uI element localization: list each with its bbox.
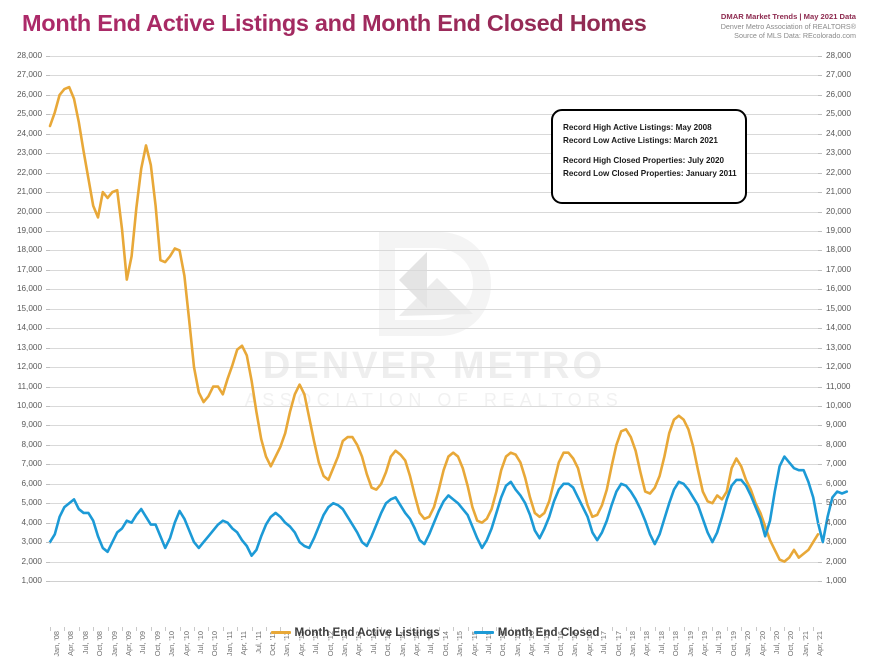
y-axis-tick-label: 27,000 bbox=[826, 71, 851, 79]
series-line-closed bbox=[50, 457, 847, 556]
y-axis-tick-label: 17,000 bbox=[17, 266, 42, 274]
y-axis-tick bbox=[46, 464, 50, 465]
y-axis-tick bbox=[46, 542, 50, 543]
record-high-closed: Record High Closed Properties: July 2020 bbox=[563, 155, 745, 168]
chart-header: Month End Active Listings and Month End … bbox=[0, 0, 870, 46]
y-axis-tick-label: 26,000 bbox=[826, 91, 851, 99]
y-axis-tick bbox=[818, 231, 822, 232]
y-axis-tick-label: 25,000 bbox=[17, 110, 42, 118]
y-axis-tick-label: 21,000 bbox=[17, 188, 42, 196]
y-axis-tick bbox=[818, 173, 822, 174]
page-title: Month End Active Listings and Month End … bbox=[22, 10, 647, 37]
record-annotation-box: Record High Active Listings: May 2008 Re… bbox=[551, 109, 747, 204]
y-axis-tick-label: 5,000 bbox=[826, 499, 847, 507]
legend-swatch-closed bbox=[474, 631, 494, 634]
y-axis-tick-label: 24,000 bbox=[17, 130, 42, 138]
y-axis-tick bbox=[818, 289, 822, 290]
y-axis-tick-label: 8,000 bbox=[22, 441, 43, 449]
y-axis-tick-label: 23,000 bbox=[17, 149, 42, 157]
y-axis-tick-label: 20,000 bbox=[17, 208, 42, 216]
y-axis-tick-label: 10,000 bbox=[826, 402, 851, 410]
y-axis-tick-label: 16,000 bbox=[826, 285, 851, 293]
y-axis-tick-label: 10,000 bbox=[17, 402, 42, 410]
y-axis-tick bbox=[818, 309, 822, 310]
y-axis-tick bbox=[818, 153, 822, 154]
y-axis-tick-label: 25,000 bbox=[826, 110, 851, 118]
y-axis-tick bbox=[46, 114, 50, 115]
y-axis-tick bbox=[46, 425, 50, 426]
y-axis-tick bbox=[46, 95, 50, 96]
y-axis-tick bbox=[46, 581, 50, 582]
y-axis-tick bbox=[818, 484, 822, 485]
y-axis-tick bbox=[818, 406, 822, 407]
y-axis-tick-label: 2,000 bbox=[22, 558, 43, 566]
y-axis-tick-label: 3,000 bbox=[826, 538, 847, 546]
y-axis-tick-label: 15,000 bbox=[826, 305, 851, 313]
legend-item-closed[interactable]: Month End Closed bbox=[474, 626, 600, 639]
y-axis-tick bbox=[818, 503, 822, 504]
y-axis-tick bbox=[818, 270, 822, 271]
y-axis-tick-label: 23,000 bbox=[826, 149, 851, 157]
gridline bbox=[50, 581, 818, 582]
y-axis-tick-label: 9,000 bbox=[826, 421, 847, 429]
y-axis-tick bbox=[46, 406, 50, 407]
y-axis-tick-label: 7,000 bbox=[826, 460, 847, 468]
y-axis-tick-label: 12,000 bbox=[17, 363, 42, 371]
y-axis-tick bbox=[818, 250, 822, 251]
y-axis-tick-label: 27,000 bbox=[17, 71, 42, 79]
y-axis-tick-label: 28,000 bbox=[826, 52, 851, 60]
y-axis-tick-label: 19,000 bbox=[17, 227, 42, 235]
y-axis-tick bbox=[818, 192, 822, 193]
y-axis-tick-label: 28,000 bbox=[17, 52, 42, 60]
y-axis-tick-label: 8,000 bbox=[826, 441, 847, 449]
y-axis-tick bbox=[46, 445, 50, 446]
y-axis-tick bbox=[46, 348, 50, 349]
y-axis-tick bbox=[818, 523, 822, 524]
y-axis-tick-label: 17,000 bbox=[826, 266, 851, 274]
y-axis-tick bbox=[46, 250, 50, 251]
legend-label-closed: Month End Closed bbox=[498, 626, 600, 639]
y-axis-tick-label: 4,000 bbox=[22, 519, 43, 527]
y-axis-tick bbox=[818, 114, 822, 115]
y-axis-tick-label: 18,000 bbox=[826, 246, 851, 254]
y-axis-tick bbox=[46, 328, 50, 329]
y-axis-tick bbox=[46, 75, 50, 76]
y-axis-tick-label: 1,000 bbox=[826, 577, 847, 585]
attribution-line-3: Source of MLS Data: REcolorado.com bbox=[721, 31, 856, 40]
y-axis-tick-label: 6,000 bbox=[22, 480, 43, 488]
record-low-closed: Record Low Closed Properties: January 20… bbox=[563, 168, 745, 181]
attribution-block: DMAR Market Trends | May 2021 Data Denve… bbox=[721, 12, 856, 40]
y-axis-tick-label: 7,000 bbox=[22, 460, 43, 468]
y-axis-tick-label: 9,000 bbox=[22, 421, 43, 429]
y-axis-tick bbox=[818, 348, 822, 349]
attribution-line-1: DMAR Market Trends | May 2021 Data bbox=[721, 12, 856, 22]
y-axis-tick bbox=[818, 464, 822, 465]
y-axis-tick bbox=[818, 425, 822, 426]
y-axis-tick-label: 18,000 bbox=[17, 246, 42, 254]
y-axis-tick bbox=[46, 367, 50, 368]
y-axis-tick bbox=[818, 75, 822, 76]
record-high-active: Record High Active Listings: May 2008 bbox=[563, 122, 745, 135]
y-axis-tick-label: 26,000 bbox=[17, 91, 42, 99]
attribution-line-2: Denver Metro Association of REALTORS® bbox=[721, 22, 856, 31]
y-axis-tick bbox=[46, 270, 50, 271]
chart-page: Month End Active Listings and Month End … bbox=[0, 0, 870, 665]
y-axis-tick-label: 5,000 bbox=[22, 499, 43, 507]
y-axis-tick-label: 22,000 bbox=[826, 169, 851, 177]
y-axis-tick bbox=[46, 192, 50, 193]
y-axis-tick-label: 14,000 bbox=[17, 324, 42, 332]
legend-swatch-active-listings bbox=[271, 631, 291, 634]
y-axis-tick bbox=[46, 562, 50, 563]
y-axis-tick bbox=[46, 153, 50, 154]
record-low-active: Record Low Active Listings: March 2021 bbox=[563, 135, 745, 148]
y-axis-tick-label: 2,000 bbox=[826, 558, 847, 566]
plot-wrapper: DENVER METRO ASSOCIATION OF REALTORS 28,… bbox=[0, 46, 870, 621]
y-axis-tick bbox=[46, 212, 50, 213]
legend-label-active-listings: Month End Active Listings bbox=[295, 626, 440, 639]
y-axis-tick bbox=[46, 387, 50, 388]
y-axis-tick-label: 16,000 bbox=[17, 285, 42, 293]
y-axis-tick bbox=[818, 387, 822, 388]
y-axis-tick-label: 11,000 bbox=[18, 383, 42, 391]
y-axis-tick-label: 3,000 bbox=[22, 538, 43, 546]
y-axis-tick-label: 22,000 bbox=[17, 169, 42, 177]
y-axis-tick bbox=[818, 562, 822, 563]
y-axis-tick-label: 12,000 bbox=[826, 363, 851, 371]
y-axis-tick bbox=[46, 173, 50, 174]
y-axis-tick-label: 11,000 bbox=[826, 383, 850, 391]
y-axis-tick-label: 20,000 bbox=[826, 208, 851, 216]
y-axis-tick bbox=[818, 134, 822, 135]
y-axis-tick bbox=[818, 542, 822, 543]
y-axis-tick bbox=[818, 56, 822, 57]
y-axis-tick bbox=[46, 289, 50, 290]
y-axis-tick-label: 21,000 bbox=[826, 188, 851, 196]
y-axis-tick-label: 1,000 bbox=[22, 577, 43, 585]
y-axis-tick bbox=[46, 231, 50, 232]
chart-legend: Month End Active Listings Month End Clos… bbox=[0, 626, 870, 639]
y-axis-tick bbox=[818, 328, 822, 329]
y-axis-tick bbox=[46, 484, 50, 485]
y-axis-tick bbox=[818, 212, 822, 213]
y-axis-tick bbox=[46, 503, 50, 504]
y-axis-tick bbox=[818, 445, 822, 446]
annotation-spacer bbox=[563, 147, 745, 155]
y-axis-tick bbox=[46, 56, 50, 57]
y-axis-tick-label: 6,000 bbox=[826, 480, 847, 488]
y-axis-tick bbox=[818, 95, 822, 96]
y-axis-tick bbox=[46, 309, 50, 310]
y-axis-tick-label: 4,000 bbox=[826, 519, 847, 527]
y-axis-tick-label: 13,000 bbox=[17, 344, 42, 352]
y-axis-tick-label: 14,000 bbox=[826, 324, 851, 332]
y-axis-tick-label: 15,000 bbox=[17, 305, 42, 313]
y-axis-tick bbox=[818, 367, 822, 368]
y-axis-tick-label: 24,000 bbox=[826, 130, 851, 138]
y-axis-tick-label: 19,000 bbox=[826, 227, 851, 235]
y-axis-tick bbox=[46, 523, 50, 524]
y-axis-tick-label: 13,000 bbox=[826, 344, 851, 352]
y-axis-tick bbox=[818, 581, 822, 582]
legend-item-active-listings[interactable]: Month End Active Listings bbox=[271, 626, 440, 639]
y-axis-tick bbox=[46, 134, 50, 135]
